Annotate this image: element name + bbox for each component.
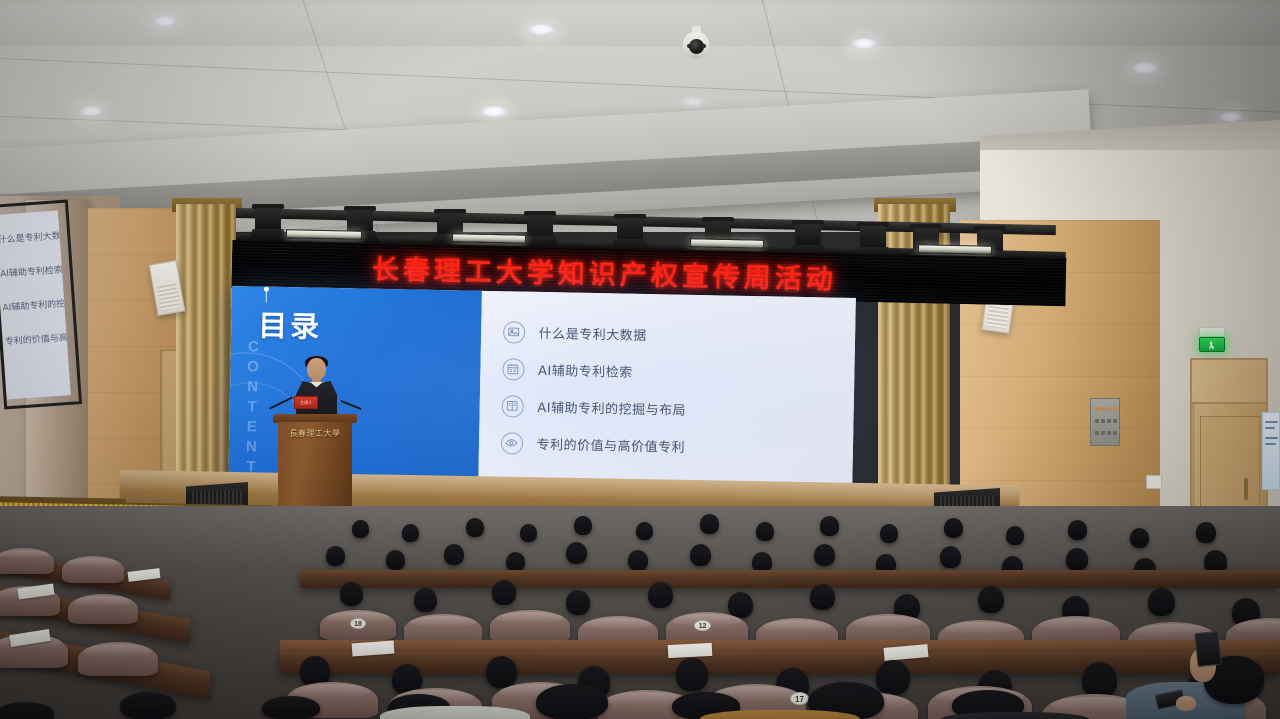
audience-head bbox=[944, 518, 963, 538]
audience-shoulders bbox=[380, 706, 530, 719]
audience-head bbox=[876, 660, 910, 695]
audience-head bbox=[486, 656, 517, 688]
speaker-person bbox=[292, 358, 340, 418]
audience-head bbox=[520, 524, 537, 542]
audience-head bbox=[574, 516, 592, 535]
audience-head bbox=[728, 592, 753, 618]
audience-head-foreground bbox=[120, 692, 176, 719]
audience-head bbox=[1068, 520, 1087, 540]
audience-shoulders bbox=[940, 712, 1090, 719]
audience-head bbox=[414, 588, 437, 612]
audience-head bbox=[1006, 526, 1024, 545]
agenda-item-label: 什么是专利大数据 bbox=[539, 323, 647, 344]
audience-head bbox=[566, 542, 587, 564]
eye-icon bbox=[500, 432, 522, 454]
audience-head bbox=[444, 544, 464, 565]
audience-head bbox=[628, 550, 648, 571]
audience-head bbox=[1196, 522, 1216, 543]
audience-head bbox=[978, 586, 1004, 613]
audience-head bbox=[648, 582, 673, 608]
desk-row bbox=[300, 570, 1280, 588]
audience-head bbox=[756, 522, 774, 541]
seat-number: 18 bbox=[350, 618, 366, 629]
audience-head bbox=[506, 552, 525, 572]
smartphone[interactable] bbox=[1194, 631, 1221, 667]
audience-head bbox=[1130, 528, 1149, 548]
desk-row bbox=[280, 652, 1280, 674]
seat-number: 17 bbox=[790, 692, 809, 705]
audience-head bbox=[690, 544, 711, 566]
audience-head bbox=[676, 658, 708, 691]
ceiling-downlight bbox=[850, 38, 878, 50]
calendar-icon bbox=[502, 358, 524, 380]
ceiling-downlight bbox=[480, 106, 508, 118]
audience-head bbox=[1066, 548, 1088, 571]
lectern-plaque: 長春理工大學 bbox=[284, 426, 346, 440]
handout-paper bbox=[668, 643, 713, 658]
audience-head bbox=[466, 518, 484, 537]
audience-head bbox=[402, 524, 419, 542]
agenda-item: 专利的价值与高价值专利 bbox=[500, 424, 853, 468]
audience-head bbox=[700, 514, 719, 534]
hand bbox=[1176, 696, 1196, 711]
ceiling-downlight bbox=[676, 96, 710, 109]
security-camera-icon bbox=[683, 26, 709, 60]
strip-light bbox=[690, 238, 764, 249]
ceiling-downlight bbox=[78, 106, 104, 117]
agenda-item-label: AI辅助专利检索 bbox=[538, 360, 633, 381]
ceiling-downlight bbox=[526, 24, 556, 36]
exit-arrow-sign bbox=[1199, 327, 1225, 337]
image-icon bbox=[503, 321, 525, 343]
agenda-item-label: 专利的价值与高价值专利 bbox=[536, 434, 685, 456]
lectern: 長春理工大學 bbox=[276, 414, 354, 510]
book-icon bbox=[501, 395, 523, 417]
audience-head bbox=[1148, 588, 1175, 616]
slide-tick-marker bbox=[266, 289, 267, 303]
audience-head bbox=[1082, 662, 1117, 698]
wall-notice bbox=[1262, 412, 1280, 490]
light-switch-plate[interactable] bbox=[1146, 475, 1162, 489]
ceiling-downlight bbox=[152, 16, 178, 27]
door-handle[interactable] bbox=[1244, 478, 1248, 500]
audience-head bbox=[566, 590, 590, 615]
audience-head bbox=[940, 546, 961, 568]
slide-agenda-panel: 什么是专利大数据 AI辅助专利检索 bbox=[478, 291, 856, 490]
wall-control-panel[interactable] bbox=[1090, 398, 1120, 446]
emergency-exit-icon bbox=[1199, 337, 1225, 352]
audience-head bbox=[492, 580, 516, 605]
audience-head bbox=[352, 520, 369, 538]
auditorium-seat[interactable] bbox=[490, 610, 570, 642]
seat-number: 12 bbox=[694, 620, 711, 631]
audience-head bbox=[810, 584, 835, 610]
side-screen-frame bbox=[0, 200, 82, 410]
strip-light bbox=[286, 229, 362, 240]
audience-head bbox=[636, 522, 653, 540]
auditorium-seat[interactable] bbox=[0, 548, 54, 574]
auditorium-seating-area: 18 12 16 17 19 bbox=[0, 506, 1280, 719]
agenda-item-label: AI辅助专利的挖掘与布局 bbox=[537, 397, 686, 419]
audience-head bbox=[820, 516, 839, 536]
slide-title-panel: 目录 CONTENT bbox=[228, 286, 481, 483]
audience-head-foreground bbox=[0, 702, 54, 719]
audience-head bbox=[814, 544, 835, 566]
audience-head-foreground bbox=[536, 684, 608, 719]
name-placard: 主讲人 bbox=[294, 396, 318, 409]
strip-light bbox=[918, 244, 992, 255]
audience-head bbox=[326, 546, 345, 566]
auditorium-seat[interactable] bbox=[78, 642, 158, 676]
stage-curtain-left bbox=[176, 204, 236, 504]
audience-shoulders bbox=[700, 710, 860, 719]
auditorium-seat[interactable] bbox=[62, 556, 124, 583]
audience-head-foreground bbox=[262, 696, 320, 719]
audience-head bbox=[386, 550, 405, 570]
audience-head bbox=[880, 524, 898, 543]
slide-title: 目录 bbox=[258, 303, 323, 346]
auditorium-seat[interactable] bbox=[68, 594, 138, 624]
auditorium-photo: 长春理工大学知识产权宣传周活动 什么是专利大数据 AI辅助专利检索 AI辅助专利… bbox=[0, 0, 1280, 719]
strip-light bbox=[452, 233, 526, 244]
slide-vertical-label: CONTENT bbox=[242, 338, 262, 478]
ceiling-downlight bbox=[1130, 62, 1160, 75]
audience-head bbox=[340, 582, 363, 606]
